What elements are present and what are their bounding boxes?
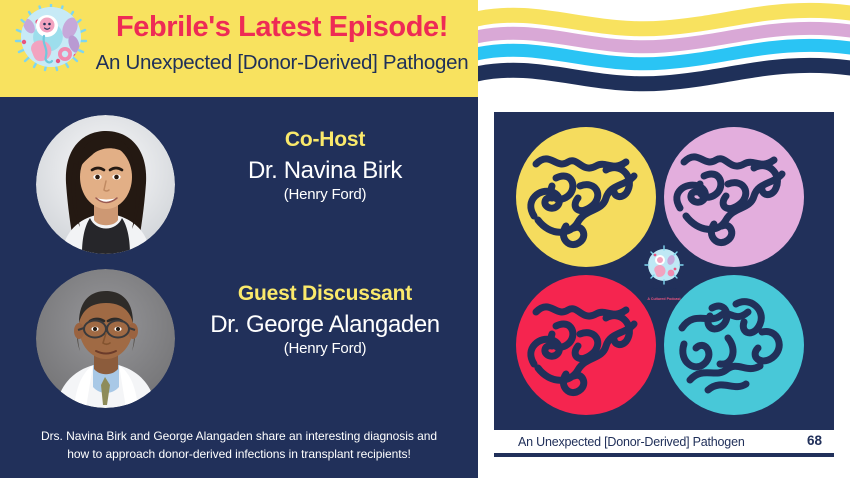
person-name: Dr. George Alangaden <box>180 310 470 340</box>
episode-blurb-line-1: Drs. Navina Birk and George Alangaden sh… <box>14 427 464 445</box>
header-band: Febrile's Latest Episode! An Unexpected … <box>0 0 478 97</box>
header-text: Febrile's Latest Episode! An Unexpected … <box>88 8 476 92</box>
avatar-george-alangaden <box>36 269 175 408</box>
person-row: Co-Host Dr. Navina Birk (Henry Ford) <box>0 115 478 255</box>
slide-promo-graphic: Febrile's Latest Episode! An Unexpected … <box>0 0 850 478</box>
episode-subtitle: An Unexpected [Donor-Derived] Pathogen <box>84 50 480 76</box>
left-column: Febrile's Latest Episode! An Unexpected … <box>0 0 478 478</box>
person-info: Co-Host Dr. Navina Birk (Henry Ford) <box>180 127 470 204</box>
episode-blurb: Drs. Navina Birk and George Alangaden sh… <box>14 427 464 463</box>
wave-decoration <box>478 0 850 98</box>
yellow-circle <box>516 127 656 267</box>
avatar-navina-birk <box>36 115 175 254</box>
person-info: Guest Discussant Dr. George Alangaden (H… <box>180 281 470 358</box>
person-name: Dr. Navina Birk <box>180 156 470 186</box>
slide-bottom-rule <box>494 453 834 457</box>
person-affiliation: (Henry Ford) <box>180 186 470 204</box>
red-circle <box>516 275 656 415</box>
cyan-circle <box>664 275 804 415</box>
pink-circle <box>664 127 804 267</box>
person-affiliation: (Henry Ford) <box>180 340 470 358</box>
svg-text:febrile: febrile <box>650 285 677 295</box>
slide-caption: An Unexpected [Donor-Derived] Pathogen <box>518 434 745 450</box>
episode-blurb-line-2: how to approach donor-derived infections… <box>14 445 464 463</box>
slide-page-number: 68 <box>807 433 822 449</box>
person-row: Guest Discussant Dr. George Alangaden (H… <box>0 269 478 409</box>
right-column: febrile A Cultured Podcast An Unexpected… <box>478 0 850 478</box>
slide-image: febrile A Cultured Podcast <box>494 112 834 430</box>
person-role: Co-Host <box>180 127 470 153</box>
person-role: Guest Discussant <box>180 281 470 307</box>
svg-text:A Cultured Podcast: A Cultured Podcast <box>647 297 681 301</box>
guest-panel: Co-Host Dr. Navina Birk (Henry Ford) <box>0 97 478 478</box>
episode-title: Febrile's Latest Episode! <box>88 10 476 44</box>
slide-card[interactable]: febrile A Cultured Podcast An Unexpected… <box>494 112 834 457</box>
febrile-logo-icon <box>8 4 94 92</box>
